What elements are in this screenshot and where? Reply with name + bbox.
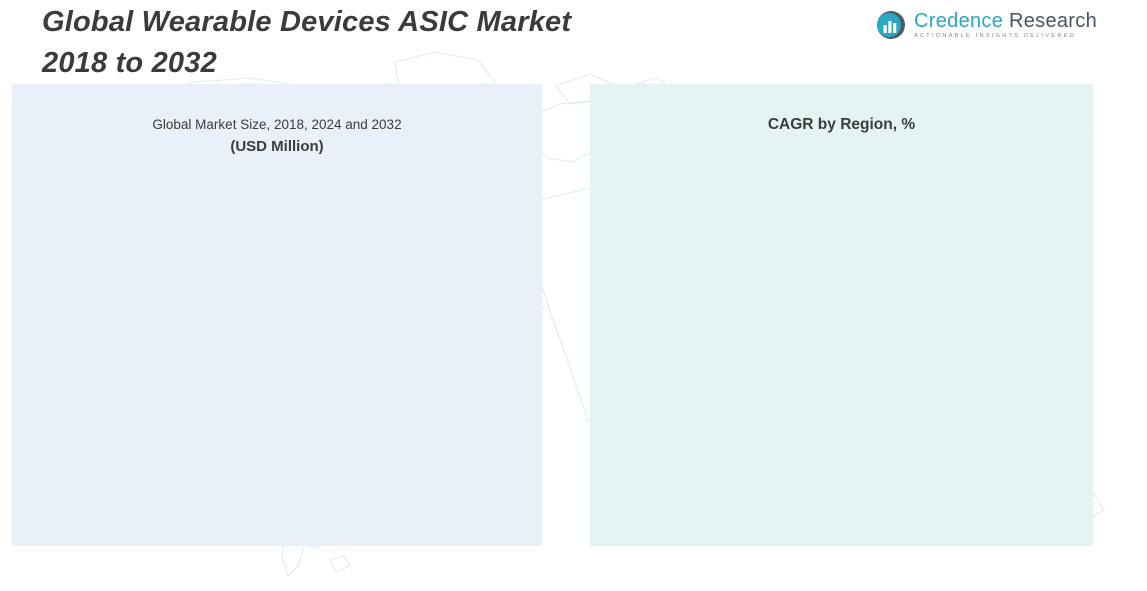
right-panel-heading: CAGR by Region, % (590, 114, 1093, 136)
page-title: Global Wearable Devices ASIC Market 2018… (42, 2, 802, 84)
left-panel-heading: Global Market Size, 2018, 2024 and 2032 … (12, 114, 542, 158)
left-panel: Global Market Size, 2018, 2024 and 2032 … (12, 84, 542, 546)
infographic-canvas: Global Wearable Devices ASIC Market 2018… (0, 0, 1147, 591)
right-heading: CAGR by Region, % (590, 114, 1093, 136)
left-heading-line-1: Global Market Size, 2018, 2024 and 2032 (12, 114, 542, 136)
title-line-1: Global Wearable Devices ASIC Market (42, 2, 802, 43)
logo-name-secondary: Research (1003, 10, 1097, 32)
logo-text: Credence Research Actionable Insights De… (914, 11, 1097, 40)
logo-name: Credence Research (914, 11, 1097, 31)
logo-name-primary: Credence (914, 10, 1003, 32)
brand-logo: Credence Research Actionable Insights De… (876, 10, 1097, 40)
left-heading-line-2: (USD Million) (12, 136, 542, 158)
logo-tagline: Actionable Insights Delivered (914, 34, 1097, 40)
title-line-2: 2018 to 2032 (42, 43, 802, 84)
bar-chart-circle-icon (876, 10, 906, 40)
header: Global Wearable Devices ASIC Market 2018… (0, 0, 1147, 84)
right-panel: CAGR by Region, % (590, 84, 1093, 546)
